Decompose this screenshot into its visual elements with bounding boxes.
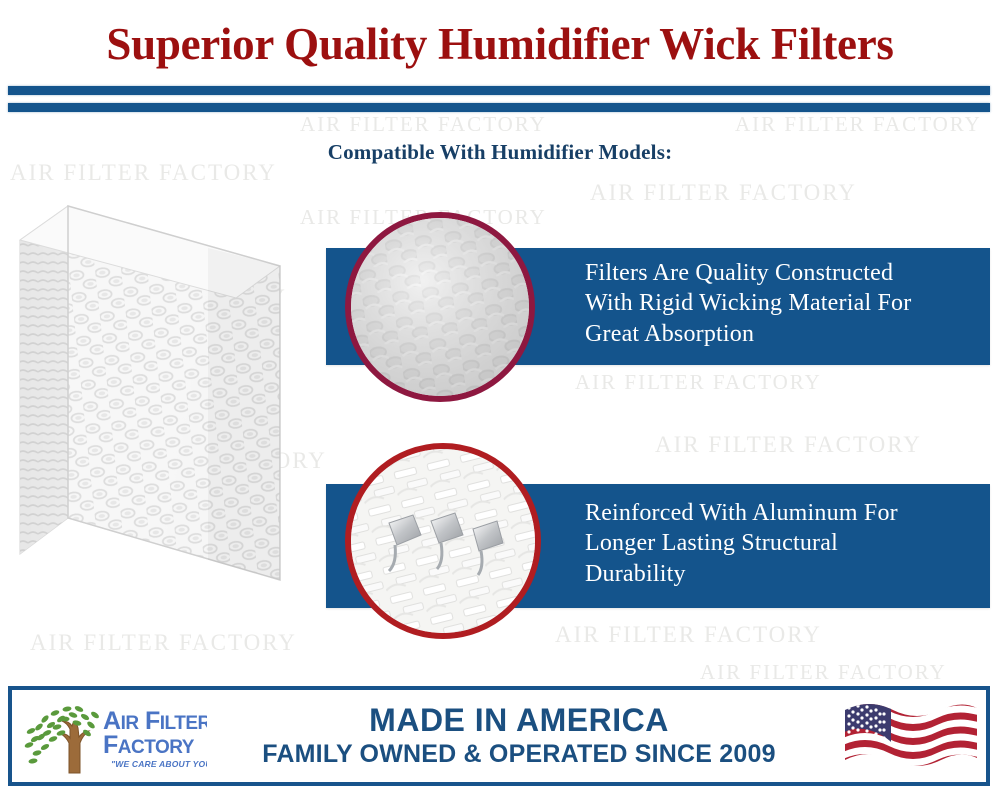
wick-mesh-closeup-photo [351,218,531,398]
watermark-text: AIR FILTER FACTORY [575,370,822,395]
product-image [8,188,308,588]
tree-logo: AIR FILTER FACTORY "WE CARE ABOUT YOUR A… [17,695,207,777]
footer-text-block: MADE IN AMERICA FAMILY OWNED & OPERATED … [212,704,836,769]
watermark-text: AIR FILTER FACTORY [735,112,982,137]
feature-text-1: Filters Are Quality Constructed With Rig… [585,258,985,349]
feature-circle-2 [345,443,541,639]
tree-trunk-icon [61,721,89,773]
header-rule-bottom [8,103,990,112]
brand-logo: AIR FILTER FACTORY "WE CARE ABOUT YOUR A… [12,690,212,782]
flag-container [836,696,986,776]
logo-tagline: "WE CARE ABOUT YOUR AIR" [111,759,207,769]
watermark-text: AIR FILTER FACTORY [555,622,822,648]
logo-brand-line2: FACTORY [103,731,195,759]
made-in-america-text: MADE IN AMERICA [212,704,826,738]
watermark-text: AIR FILTER FACTORY [30,630,297,656]
watermark-text: AIR FILTER FACTORY [655,432,922,458]
feature-text-2: Reinforced With Aluminum For Longer Last… [585,498,985,589]
header-divider [8,86,990,112]
family-owned-text: FAMILY OWNED & OPERATED SINCE 2009 [212,740,826,769]
feature-circle-1 [345,212,535,402]
usa-flag-icon [841,696,981,776]
header-rule-top [8,86,990,95]
watermark-text: AIR FILTER FACTORY [300,112,547,137]
page-title: Superior Quality Humidifier Wick Filters [0,0,1000,67]
logo-brand-line1: AIR FILTER [103,707,207,735]
product-marketing-image: AIR FILTER FACTORYAIR FILTER FACTORYAIR … [0,0,1000,796]
footer-bar: AIR FILTER FACTORY "WE CARE ABOUT YOUR A… [8,686,990,786]
watermark-text: AIR FILTER FACTORY [700,660,947,685]
subtitle-compatible-models: Compatible With Humidifier Models: [0,140,1000,165]
aluminum-reinforcement-closeup-photo [351,449,537,635]
watermark-text: AIR FILTER FACTORY [590,180,857,206]
header: Superior Quality Humidifier Wick Filters [0,0,1000,67]
wick-filter-photo [8,188,308,588]
tree-leaves-icon [24,705,100,764]
